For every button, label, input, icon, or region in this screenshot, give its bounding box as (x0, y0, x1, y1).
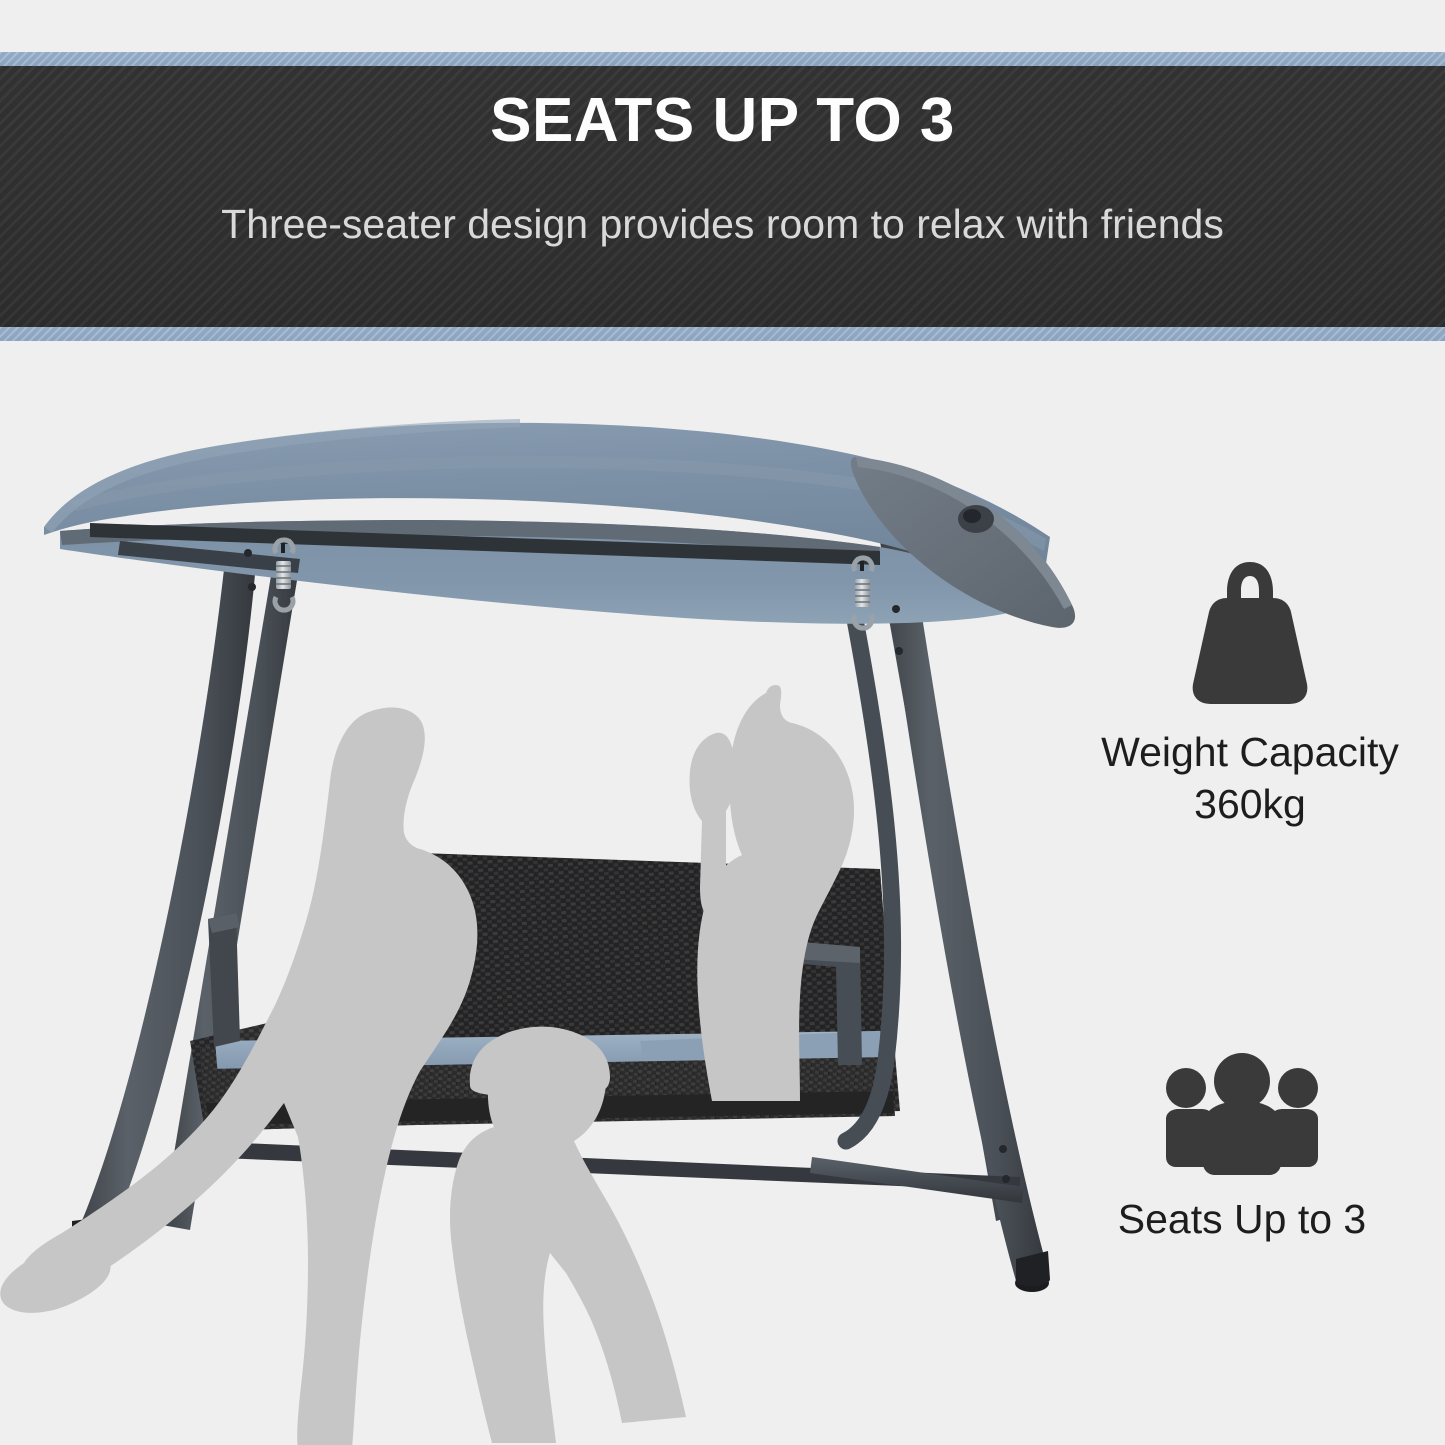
feature-weight-capacity: Weight Capacity 360kg (1070, 548, 1430, 831)
product-scene (0, 341, 1445, 1445)
silhouette-legs-left (0, 1248, 110, 1313)
top-margin-strip (0, 0, 1445, 52)
banner-title: SEATS UP TO 3 (0, 90, 1445, 152)
group-of-people-icon (1062, 1050, 1422, 1175)
banner-bottom-rule (0, 327, 1445, 341)
weight-icon (1070, 548, 1430, 708)
weight-capacity-label: Weight Capacity 360kg (1070, 726, 1430, 831)
banner-top-rule (0, 52, 1445, 66)
seats-capacity-label: Seats Up to 3 (1062, 1193, 1422, 1245)
feature-seats-capacity: Seats Up to 3 (1062, 1050, 1422, 1245)
header-banner: SEATS UP TO 3 Three-seater design provid… (0, 52, 1445, 341)
product-feature-image: SEATS UP TO 3 Three-seater design provid… (0, 0, 1445, 1445)
banner-subtitle: Three-seater design provides room to rel… (0, 204, 1445, 245)
